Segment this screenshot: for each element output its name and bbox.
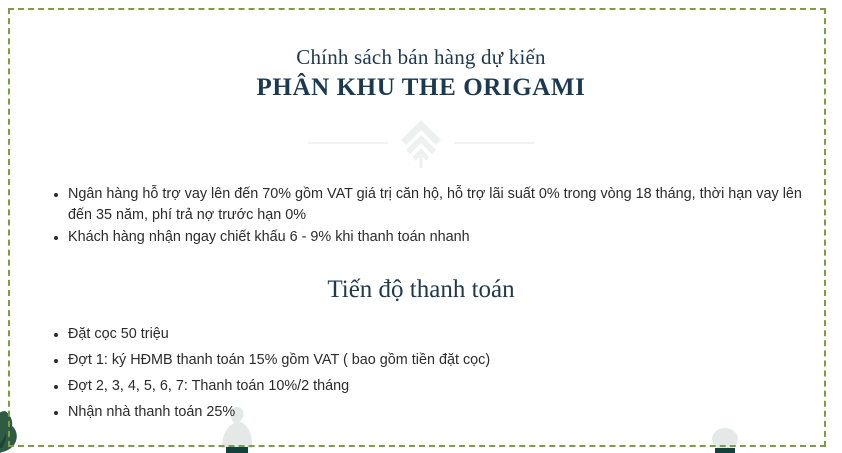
chevron-ornament-icon xyxy=(398,118,444,168)
list-item: Đặt cọc 50 triệu xyxy=(54,324,808,345)
list-item: Ngân hàng hỗ trợ vay lên đến 70% gồm VAT… xyxy=(54,184,808,226)
policy-list: Ngân hàng hỗ trợ vay lên đến 70% gồm VAT… xyxy=(18,184,824,248)
slide-subtitle: Chính sách bán hàng dự kiến xyxy=(18,44,824,70)
list-item: Đợt 2, 3, 4, 5, 6, 7: Thanh toán 10%/2 t… xyxy=(54,376,808,397)
payment-schedule-list: Đặt cọc 50 triệu Đợt 1: ký HĐMB thanh to… xyxy=(18,324,824,423)
title-block: Chính sách bán hàng dự kiến PHÂN KHU THE… xyxy=(18,0,824,104)
divider-rule-right xyxy=(454,142,534,144)
slide-content: Chính sách bán hàng dự kiến PHÂN KHU THE… xyxy=(0,0,842,453)
list-item: Nhận nhà thanh toán 25% xyxy=(54,402,808,423)
sales-policy-slide: Chính sách bán hàng dự kiến PHÂN KHU THE… xyxy=(0,0,842,453)
slide-title: PHÂN KHU THE ORIGAMI xyxy=(18,72,824,104)
payment-schedule-title: Tiến độ thanh toán xyxy=(18,274,824,306)
divider-rule-left xyxy=(308,142,388,144)
list-item: Đợt 1: ký HĐMB thanh toán 15% gồm VAT ( … xyxy=(54,350,808,371)
list-item: Khách hàng nhận ngay chiết khấu 6 - 9% k… xyxy=(54,227,808,248)
ornament-divider xyxy=(18,118,824,168)
